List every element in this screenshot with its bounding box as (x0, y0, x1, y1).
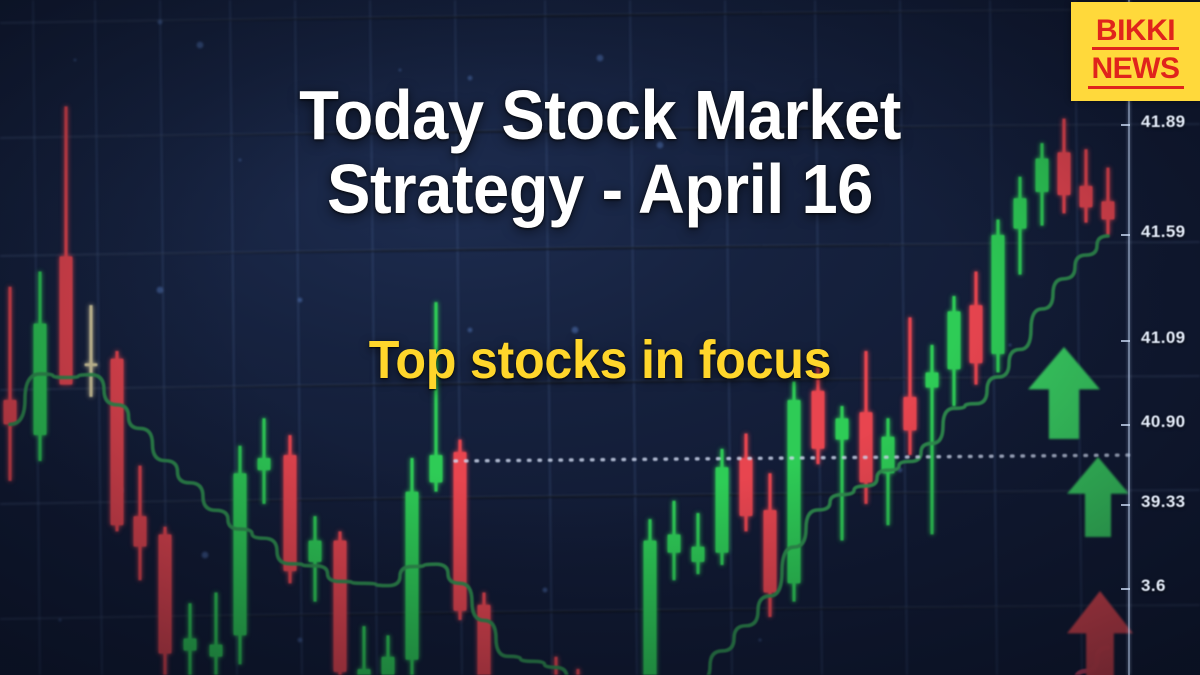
price-axis-tick (1121, 588, 1130, 590)
price-axis-tick (1121, 234, 1130, 236)
price-axis-tick (1121, 124, 1130, 126)
price-axis-tick (1121, 504, 1130, 506)
price-axis-label: 41.59 (1141, 222, 1186, 242)
price-axis: 41.8941.5941.0940.9039.333.6 (1128, 0, 1200, 675)
price-axis-label: 3.6 (1141, 576, 1166, 596)
price-axis-tick (1121, 340, 1130, 342)
logo-line-bikki: BIKKI (1092, 15, 1179, 51)
price-axis-label: 41.09 (1141, 328, 1186, 348)
price-axis-label: 41.89 (1141, 112, 1186, 132)
logo-line-news: NEWS (1088, 53, 1184, 89)
channel-logo[interactable]: BIKKI NEWS (1071, 2, 1200, 101)
price-axis-label: 39.33 (1141, 492, 1186, 512)
trend-arrows (0, 0, 1200, 675)
price-axis-label: 40.90 (1141, 412, 1186, 432)
price-axis-tick (1121, 424, 1130, 426)
stock-market-thumbnail: 41.8941.5941.0940.9039.333.6 Today Stock… (0, 0, 1200, 675)
price-axis-rail (1128, 0, 1130, 675)
